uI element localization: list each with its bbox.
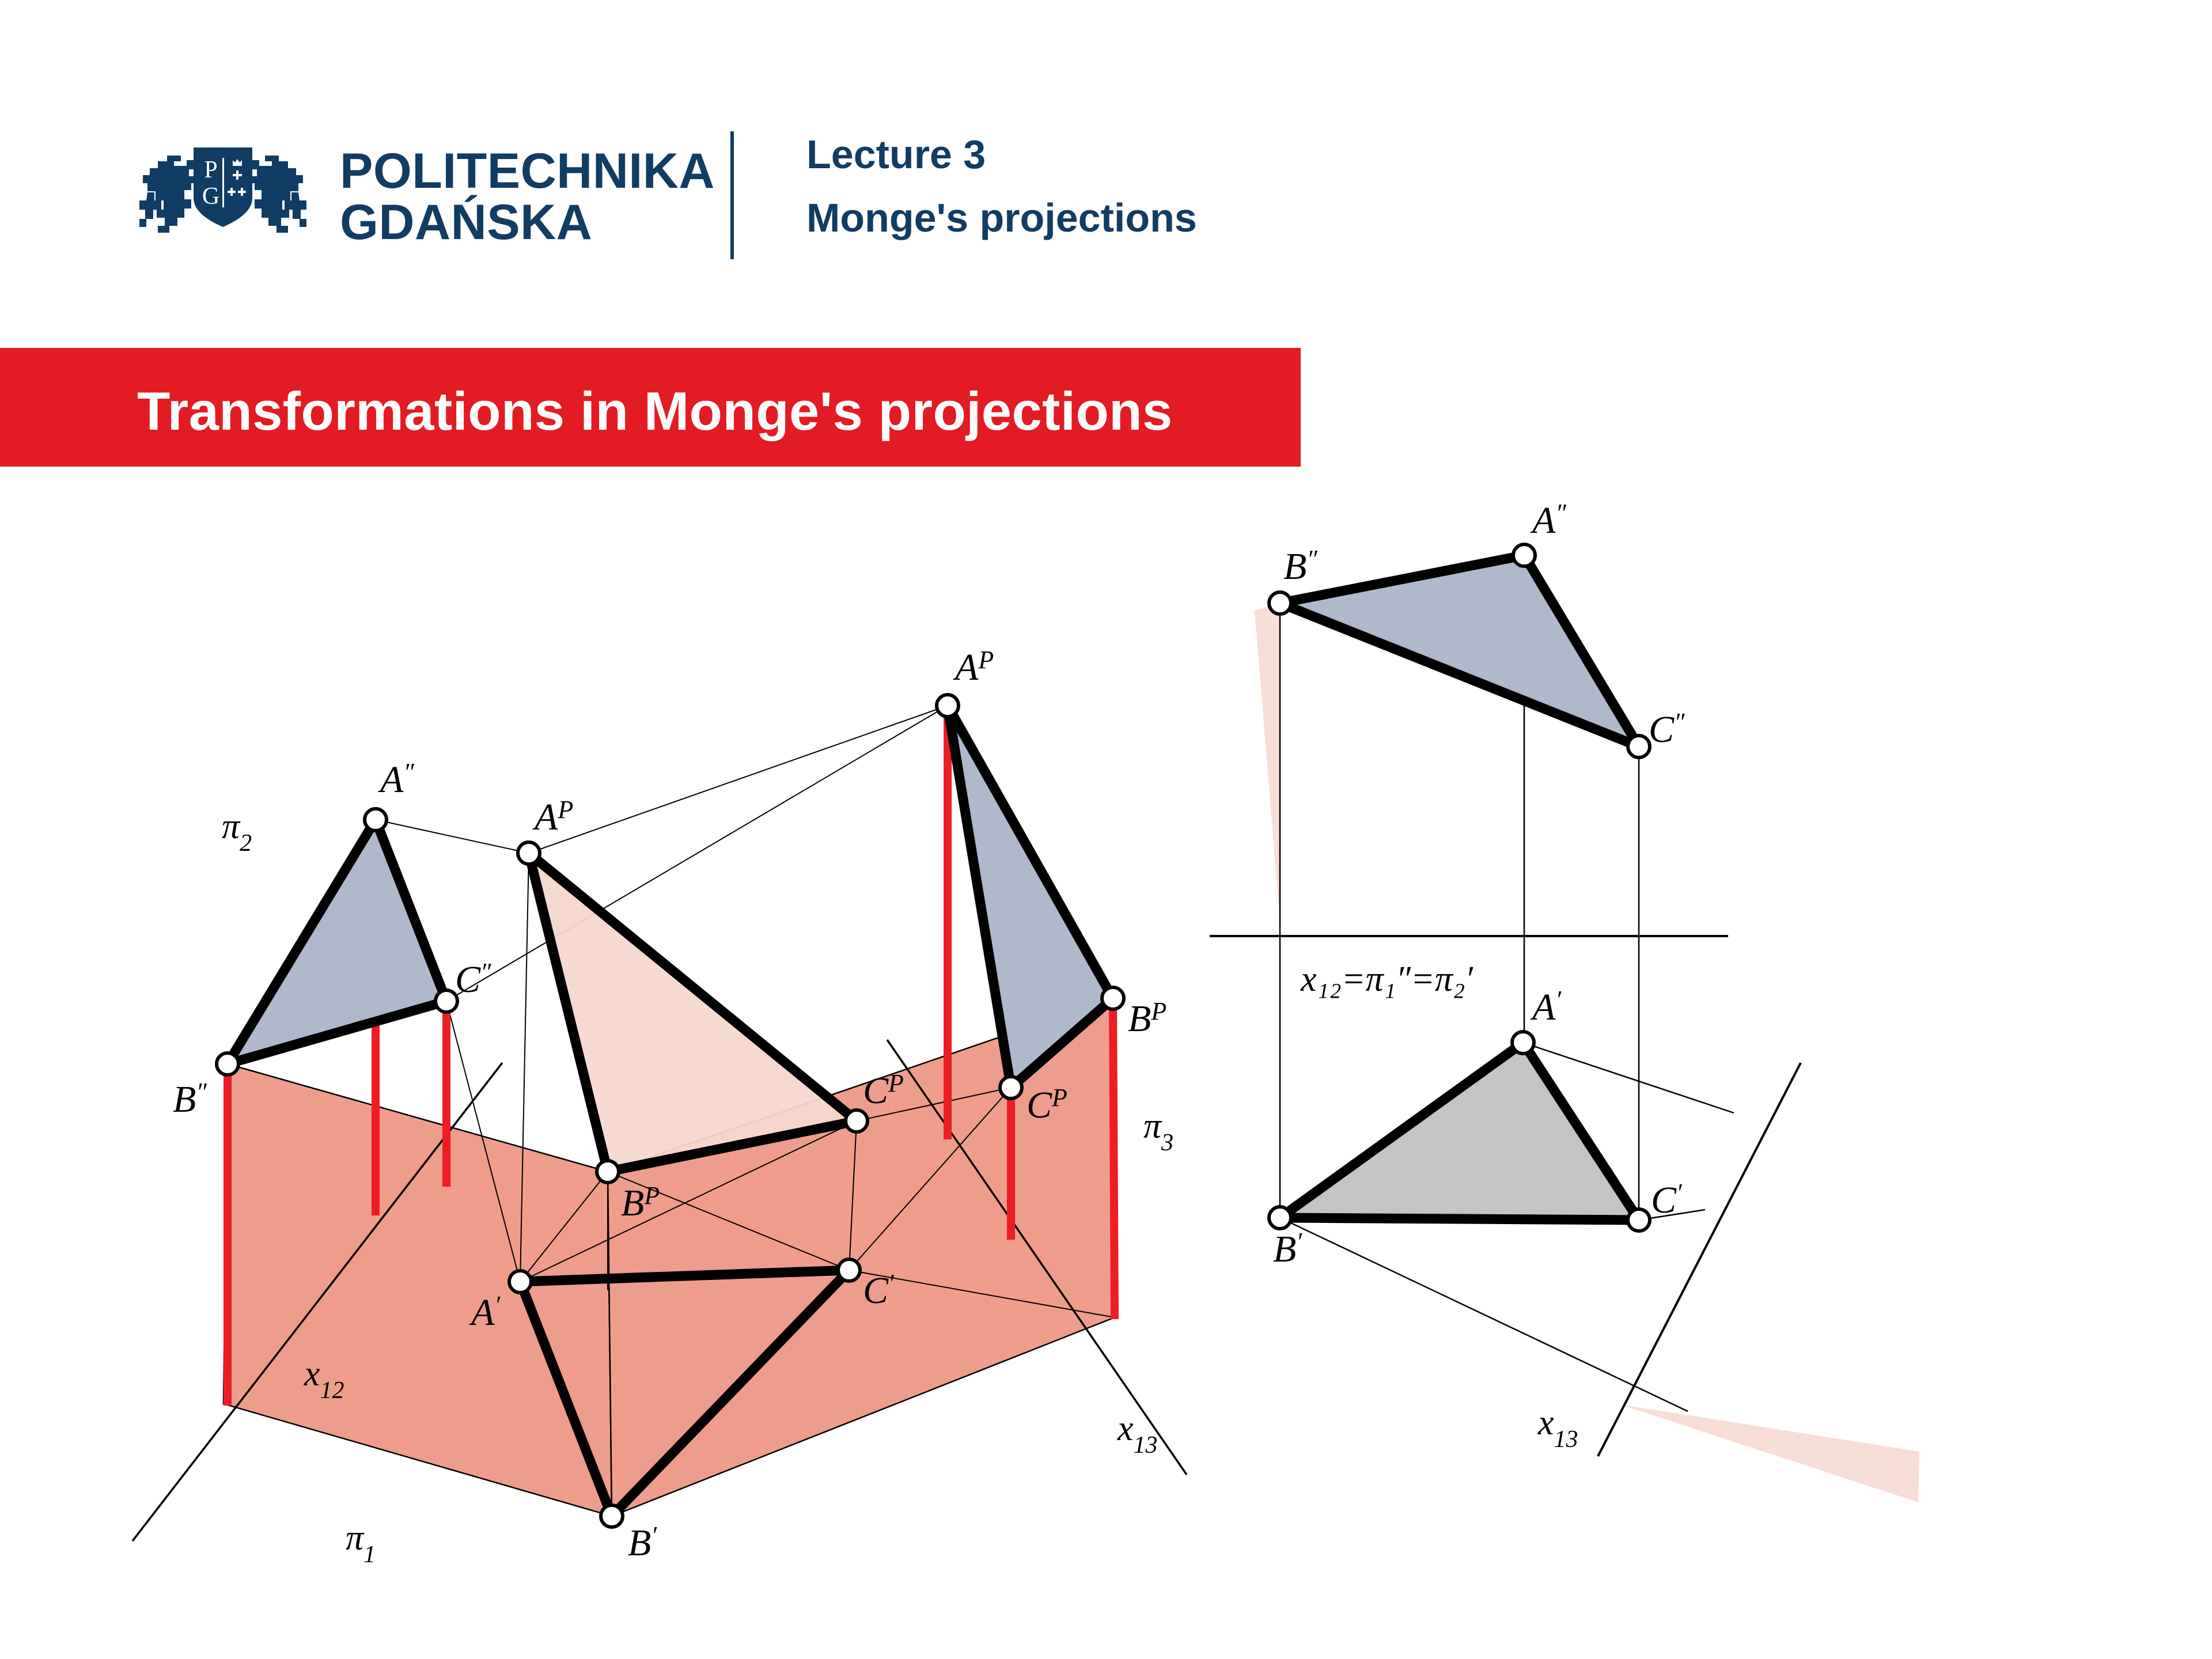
figure-area: A″ C″ B″ AP BP CP AP BP CP A′ C′ B′ π2 π… [0,472,2212,1659]
label-B1-right-sup: ′ [1296,1228,1302,1256]
svg-text:A″: A″ [378,758,414,801]
vertex-A2 [365,809,387,831]
svg-text:B′: B′ [1273,1228,1302,1270]
label-Cp-mid-sup: P [888,1069,904,1097]
vertex-Cp-mid [846,1110,868,1132]
label-B2: B [173,1078,196,1120]
label-x12-left-sub: 12 [320,1377,344,1404]
label-A2-right-sup: ″ [1555,499,1566,527]
label-Cp-mid: C [863,1070,889,1112]
vertex-C2 [435,990,457,1012]
lecture-number: Lecture 3 [806,134,1197,176]
label-C1-right: C [1651,1179,1677,1221]
label-Cp-right: C [1027,1084,1052,1126]
triangle-pi2-projection [228,820,446,1064]
vertex-Ap-mid [518,842,540,864]
svg-text:π1: π1 [346,1518,376,1568]
label-A2: A [378,759,404,801]
svg-text:π3: π3 [1143,1107,1173,1156]
svg-text:A′: A′ [1530,986,1562,1028]
label-x12-left: x [304,1354,320,1393]
university-wordmark: POLITECHNIKA GDAŃSKA [340,146,715,248]
label-Ap-right: A [953,646,979,688]
triangle-horizontal-projection [1280,1043,1639,1220]
svg-text:G: G [202,183,219,210]
label-x13-left: x [1117,1409,1134,1448]
svg-text:x13: x13 [1117,1409,1158,1459]
label-Ap-mid: A [532,796,558,838]
slide-header: P G POLITECHNIKA GDAŃSKA Lecture 3 Monge… [0,0,2212,323]
label-C2-right-sup: ″ [1674,708,1685,736]
vertex-C2-right [1628,736,1650,757]
axis-x13-line-right [1598,1063,1801,1456]
label-B2-right: B [1283,546,1306,588]
university-name-line1: POLITECHNIKA [340,146,715,197]
svg-text:x13: x13 [1537,1403,1578,1453]
label-C1: C [863,1270,889,1312]
svg-text:π2: π2 [222,807,252,857]
label-pi3: π [1143,1107,1162,1146]
vertex-B2-right [1269,592,1291,614]
wedge-pink-upper [1255,603,1280,922]
vertex-Bp-mid [597,1161,619,1183]
monge-projection-figures: A″ C″ B″ AP BP CP AP BP CP A′ C′ B′ π2 π… [0,472,2212,1659]
left-3d-diagram: A″ C″ B″ AP BP CP AP BP CP A′ C′ B′ π2 π… [132,646,1187,1568]
label-pi2: π [222,807,241,846]
wedge-pink-lower [1620,1404,1919,1502]
label-A1-right-sup: ′ [1555,986,1562,1014]
label-C2-right: C [1649,709,1675,751]
svg-text:BP: BP [1128,997,1166,1040]
svg-text:P: P [204,157,217,183]
vertex-C1 [838,1259,860,1281]
label-x13-right-sub: 13 [1554,1426,1578,1453]
svg-text:B″: B″ [173,1078,207,1120]
label-A2-sup: ″ [403,758,414,786]
label-ground-line: x₁₂=π₁″=π₂′ [1300,960,1474,999]
label-C2: C [455,959,481,1001]
plane-pi1-left-face [224,1064,612,1516]
label-B1-right: B [1273,1228,1296,1270]
header-divider [730,131,734,259]
label-Bp-right: B [1128,998,1151,1040]
label-pi1-sub: 1 [363,1541,376,1568]
lecture-topic: Monge's projections [806,197,1197,240]
label-Bp-mid-sup: P [643,1181,660,1210]
svg-text:AP: AP [532,796,573,838]
university-logo: P G POLITECHNIKA GDAŃSKA [131,128,715,266]
label-B1: B [628,1522,651,1564]
triangle-true-shape [529,853,857,1172]
vertex-Ap-right [937,695,959,717]
vertex-A1 [509,1271,531,1293]
vertex-Bp-right [1102,987,1124,1009]
label-Ap-mid-sup: P [557,796,573,824]
vertex-A1-right [1512,1032,1534,1054]
vertex-Cp-right [1000,1077,1022,1099]
vertex-B1-right [1269,1207,1291,1229]
lecture-info: Lecture 3 Monge's projections [806,134,1197,239]
label-B2-sup: ″ [196,1078,207,1106]
label-pi1: π [346,1518,365,1558]
label-Bp-right-sup: P [1150,997,1166,1025]
svg-text:C′: C′ [1651,1179,1683,1221]
svg-text:C″: C″ [455,958,491,1001]
svg-text:A″: A″ [1530,499,1566,541]
page-title: Transformations in Monge's projections [137,380,1173,442]
label-x13-right: x [1537,1403,1554,1442]
label-C1-sup: ′ [888,1269,895,1297]
label-B1-sup: ′ [651,1521,657,1550]
vertex-B2 [217,1053,238,1075]
vertex-B1 [601,1505,623,1527]
pg-crest-icon: P G [131,128,315,266]
label-Ap-right-sup: P [978,646,994,674]
svg-text:B′: B′ [628,1521,657,1564]
label-C2-sup: ″ [480,958,491,986]
label-Cp-right-sup: P [1051,1084,1067,1112]
vertex-A2-right [1513,544,1535,566]
vertex-C1-right [1628,1209,1650,1231]
label-A1-sup: ′ [494,1291,501,1319]
label-Bp-mid: B [621,1182,644,1224]
university-name-line2: GDAŃSKA [340,197,715,248]
label-pi3-sub: 3 [1161,1130,1173,1156]
triangle-frontal-projection [1280,555,1639,747]
label-B2-right-sup: ″ [1306,545,1317,573]
right-monge-diagram: A″ B″ C″ A′ B′ C′ x₁₂=π₁″=π₂′ x13 [1210,499,1919,1502]
svg-text:B″: B″ [1283,545,1317,588]
label-A1-right: A [1530,986,1556,1028]
label-A1: A [469,1291,495,1334]
svg-text:C″: C″ [1649,708,1685,751]
label-A2-right: A [1530,499,1556,541]
label-pi2-sub: 2 [240,830,252,857]
label-x13-left-sub: 13 [1134,1432,1158,1459]
svg-text:AP: AP [953,646,994,688]
label-C1-right-sup: ′ [1676,1179,1683,1207]
